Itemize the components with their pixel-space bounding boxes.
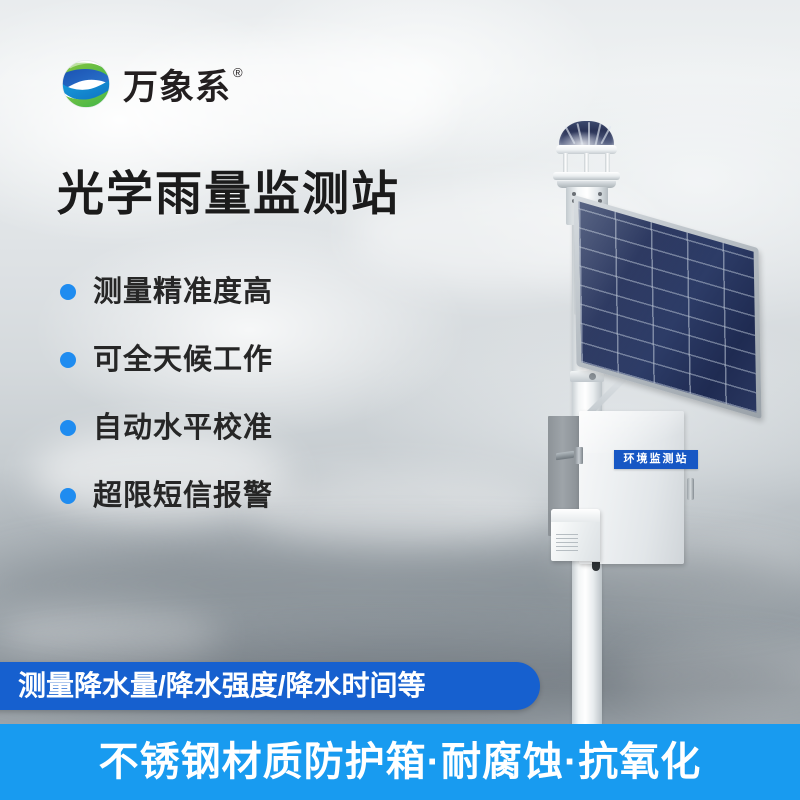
feature-item: 超限短信报警 <box>60 462 390 530</box>
feature-label: 自动水平校准 <box>93 414 273 443</box>
feature-item: 测量精准度高 <box>60 258 390 326</box>
feature-list: 测量精准度高 可全天候工作 自动水平校准 超限短信报警 <box>60 258 390 530</box>
trademark-symbol: ® <box>233 66 243 79</box>
feature-label: 可全天候工作 <box>93 346 273 375</box>
footer-banner: 不锈钢材质防护箱·耐腐蚀·抗氧化 <box>0 724 800 800</box>
brand-logo: 万象系 ® <box>58 56 243 112</box>
bullet-dot-icon <box>60 488 76 504</box>
feature-item: 自动水平校准 <box>60 394 390 462</box>
dark-cloud-band <box>0 545 800 625</box>
bullet-dot-icon <box>60 420 76 436</box>
page-title: 光学雨量监测站 <box>57 168 400 220</box>
bullet-dot-icon <box>60 284 76 300</box>
feature-item: 可全天候工作 <box>60 326 390 394</box>
globe-swirl-logo-icon <box>58 56 114 112</box>
brand-name: 万象系 <box>123 64 231 105</box>
product-poster: 环境监测站 <box>0 0 800 800</box>
feature-label: 测量精准度高 <box>93 278 273 307</box>
footer-banner-text: 不锈钢材质防护箱·耐腐蚀·抗氧化 <box>99 742 702 782</box>
feature-label: 超限短信报警 <box>93 482 273 511</box>
measurement-banner: 测量降水量/降水强度/降水时间等 <box>0 662 540 710</box>
bullet-dot-icon <box>60 352 76 368</box>
measurement-banner-text: 测量降水量/降水强度/降水时间等 <box>0 672 426 700</box>
